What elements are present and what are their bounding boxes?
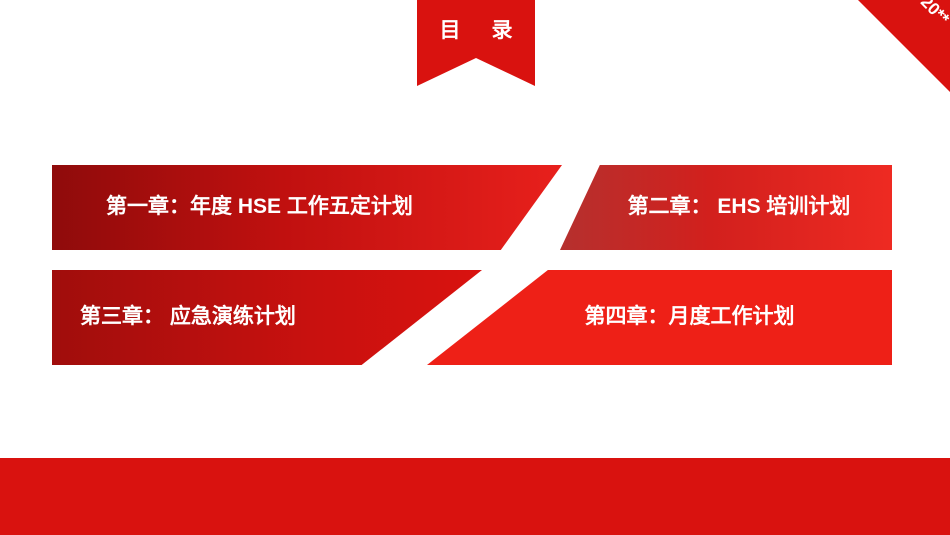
chapter-item-1[interactable]: 第一章：年度 HSE 工作五定计划	[52, 165, 562, 250]
chapter-item-2[interactable]: 第二章： EHS 培训计划	[560, 165, 892, 250]
title-banner-notch	[417, 58, 535, 86]
chapter-item-4-label: 第四章：月度工作计划	[445, 304, 874, 330]
page-title: 目 录	[417, 0, 535, 58]
chapter-item-4[interactable]: 第四章：月度工作计划	[427, 270, 892, 365]
chapter-item-3-label: 第三章： 应急演练计划	[72, 304, 462, 330]
chapter-item-3[interactable]: 第三章： 应急演练计划	[52, 270, 482, 365]
slide-title-banner: 目 录	[417, 0, 535, 58]
chapter-item-1-label: 第一章：年度 HSE 工作五定计划	[78, 194, 536, 220]
chapter-item-2-label: 第二章： EHS 培训计划	[578, 194, 874, 220]
corner-year-flag: 20**	[858, 0, 950, 92]
chapter-list: 第一章：年度 HSE 工作五定计划 第二章： EHS 培训计划 第三章： 应急演…	[52, 165, 892, 365]
footer-bar	[0, 458, 950, 535]
